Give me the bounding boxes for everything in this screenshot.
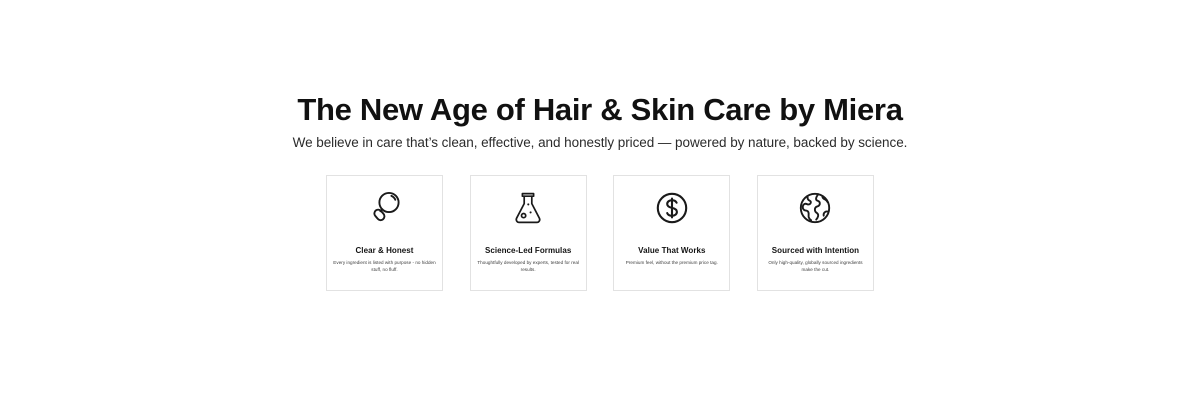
hero-section: The New Age of Hair & Skin Care by Miera… <box>0 0 1200 151</box>
feature-card-science-led-formulas[interactable]: Science-Led Formulas Thoughtfully develo… <box>470 175 587 291</box>
feature-card-description: Thoughtfully developed by experts, teste… <box>471 259 586 273</box>
feature-card-row: Clear & Honest Every ingredient is liste… <box>326 175 874 291</box>
feature-card-title: Clear & Honest <box>355 246 413 256</box>
feature-card-title: Sourced with Intention <box>772 246 859 256</box>
feature-card-value-that-works[interactable]: Value That Works Premium feel, without t… <box>613 175 730 291</box>
feature-card-description: Premium feel, without the premium price … <box>620 259 724 266</box>
feature-card-description: Every ingredient is listed with purpose … <box>327 259 442 273</box>
feature-card-title: Science-Led Formulas <box>485 246 571 256</box>
magnifying-glass-icon <box>362 185 408 231</box>
feature-card-title: Value That Works <box>638 246 705 256</box>
globe-icon <box>792 185 838 231</box>
feature-card-clear-and-honest[interactable]: Clear & Honest Every ingredient is liste… <box>326 175 443 291</box>
landing-hero-page: The New Age of Hair & Skin Care by Miera… <box>0 0 1200 400</box>
hero-subtitle: We believe in care that’s clean, effecti… <box>0 128 1200 151</box>
page-title: The New Age of Hair & Skin Care by Miera <box>0 0 1200 128</box>
dollar-coin-icon <box>649 185 695 231</box>
flask-icon <box>505 185 551 231</box>
feature-card-description: Only high-quality, globally sourced ingr… <box>758 259 873 273</box>
feature-card-sourced-with-intention[interactable]: Sourced with Intention Only high-quality… <box>757 175 874 291</box>
